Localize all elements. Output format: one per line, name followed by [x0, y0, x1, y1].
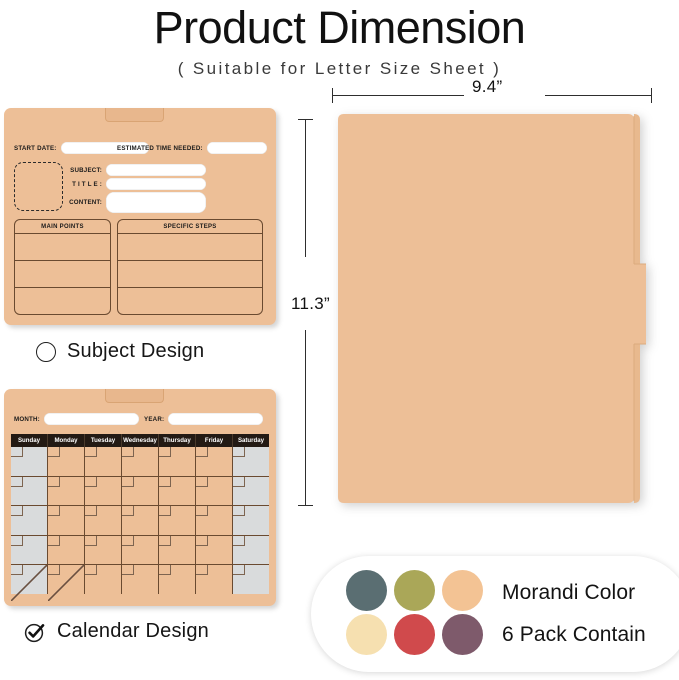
calendar-day-cell[interactable]	[11, 506, 48, 535]
page-title: Product Dimension	[0, 5, 679, 50]
color-panel: Morandi Color 6 Pack Contain	[311, 556, 679, 672]
year-label: YEAR:	[144, 416, 164, 423]
calendar-day-number-box	[48, 536, 60, 546]
start-date-label: START DATE:	[14, 145, 57, 152]
calendar-day-number-box	[48, 447, 60, 457]
height-dim-label: 11.3”	[291, 294, 330, 314]
calendar-day-cell[interactable]	[85, 565, 122, 594]
calendar-day-number-box	[159, 565, 171, 575]
table-row[interactable]	[118, 234, 262, 261]
month-input[interactable]	[44, 413, 139, 425]
calendar-week-row	[11, 536, 269, 566]
calendar-day-cell[interactable]	[196, 565, 233, 594]
calendar-day-cell[interactable]	[159, 506, 196, 535]
width-dim-right-cap	[651, 88, 652, 103]
calendar-split-cell-diagonal	[48, 565, 84, 601]
height-dim-line-bottom	[305, 330, 306, 505]
calendar-day-number-box	[233, 565, 245, 575]
content-label: CONTENT:	[66, 199, 102, 206]
calendar-day-cell[interactable]	[196, 477, 233, 506]
calendar-day-cell[interactable]	[196, 536, 233, 565]
calendar-day-number-box	[196, 447, 208, 457]
table-row[interactable]	[118, 261, 262, 288]
calendar-day-number-box	[233, 447, 245, 457]
large-folder-illustration	[332, 112, 652, 507]
weekday-tuesday: Tuesday	[85, 434, 122, 447]
specific-steps-header: SPECIFIC STEPS	[118, 220, 262, 234]
height-dim-line-top	[305, 119, 306, 257]
calendar-day-number-box	[159, 536, 171, 546]
calendar-day-number-box	[122, 477, 134, 487]
weekday-sunday: Sunday	[11, 434, 48, 447]
dashed-placeholder-box	[14, 162, 63, 211]
calendar-day-cell[interactable]	[85, 447, 122, 476]
calendar-day-cell[interactable]	[233, 565, 269, 594]
month-label: MONTH:	[14, 416, 40, 423]
title-input[interactable]	[106, 178, 206, 190]
calendar-day-number-box	[233, 536, 245, 546]
color-swatch-mauve[interactable]	[442, 614, 483, 655]
calendar-week-row	[11, 506, 269, 536]
color-panel-texts: Morandi Color 6 Pack Contain	[502, 581, 646, 647]
page-subtitle: ( Suitable for Letter Size Sheet )	[0, 59, 679, 79]
calendar-day-number-box	[196, 477, 208, 487]
calendar-day-cell[interactable]	[122, 565, 159, 594]
estimated-time-input[interactable]	[207, 142, 267, 154]
calendar-day-number-box	[48, 477, 60, 487]
table-row[interactable]	[15, 234, 110, 261]
calendar-day-cell[interactable]	[48, 506, 85, 535]
color-swatch-grid	[346, 570, 490, 658]
calendar-day-number-box	[196, 506, 208, 516]
subject-design-folder: START DATE: ESTIMATED TIME NEEDED: SUBJE…	[4, 108, 276, 325]
calendar-grid: Sunday Monday Tuesday Wednesday Thursday…	[11, 434, 269, 594]
title-field-row: T I T L E :	[66, 178, 206, 190]
calendar-day-number-box	[11, 447, 23, 457]
width-dim-label: 9.4”	[472, 77, 503, 97]
calendar-weekday-header: Sunday Monday Tuesday Wednesday Thursday…	[11, 434, 269, 447]
calendar-day-number-box	[196, 565, 208, 575]
check-circle-icon	[24, 621, 46, 643]
folder-body-path	[338, 114, 646, 503]
calendar-day-number-box	[159, 447, 171, 457]
folder-tab-notch	[105, 389, 164, 403]
calendar-day-number-box	[85, 536, 97, 546]
calendar-split-cell-diagonal	[11, 565, 47, 601]
calendar-day-number-box	[159, 506, 171, 516]
calendar-day-number-box	[122, 506, 134, 516]
large-folder-shape	[332, 112, 652, 507]
calendar-week-row	[11, 447, 269, 477]
calendar-day-cell[interactable]	[159, 565, 196, 594]
calendar-day-cell[interactable]	[159, 477, 196, 506]
calendar-day-number-box	[159, 477, 171, 487]
header: Product Dimension ( Suitable for Letter …	[0, 0, 679, 79]
content-field-row: CONTENT:	[66, 192, 206, 213]
calendar-day-number-box	[85, 506, 97, 516]
month-field-row: MONTH:	[14, 413, 139, 425]
calendar-day-cell[interactable]	[233, 536, 269, 565]
calendar-day-cell[interactable]	[122, 506, 159, 535]
calendar-day-number-box	[233, 477, 245, 487]
estimated-time-field-row: ESTIMATED TIME NEEDED:	[117, 142, 267, 154]
calendar-day-cell[interactable]	[196, 447, 233, 476]
subject-design-caption-label: Subject Design	[67, 340, 204, 363]
weekday-friday: Friday	[196, 434, 233, 447]
subject-field-row: SUBJECT:	[66, 164, 206, 176]
calendar-day-cell[interactable]	[85, 477, 122, 506]
calendar-day-cell[interactable]	[48, 477, 85, 506]
calendar-design-folder: MONTH: YEAR: Sunday Monday Tuesday Wedne…	[4, 389, 276, 606]
calendar-body	[11, 447, 269, 594]
calendar-day-number-box	[85, 477, 97, 487]
color-swatch-cream[interactable]	[346, 614, 387, 655]
calendar-day-cell[interactable]	[11, 477, 48, 506]
calendar-day-cell[interactable]	[159, 536, 196, 565]
weekday-thursday: Thursday	[159, 434, 196, 447]
folder-tab-top	[634, 114, 640, 264]
circle-outline-icon	[36, 342, 56, 362]
folder-tab-notch	[105, 108, 164, 122]
calendar-week-row	[11, 477, 269, 507]
calendar-day-cell[interactable]	[122, 536, 159, 565]
table-row[interactable]	[118, 288, 262, 315]
folder-tab-bottom	[634, 344, 640, 503]
main-points-header: MAIN POINTS	[15, 220, 110, 234]
calendar-day-cell[interactable]	[11, 565, 48, 594]
color-swatch-olive-green[interactable]	[394, 570, 435, 611]
calendar-day-number-box	[233, 506, 245, 516]
height-dim-bottom-cap	[298, 505, 313, 506]
calendar-day-cell[interactable]	[85, 536, 122, 565]
calendar-day-cell[interactable]	[48, 565, 85, 594]
table-row[interactable]	[15, 288, 110, 315]
width-dim-line-left	[332, 95, 464, 96]
width-dim-line-right	[545, 95, 651, 96]
specific-steps-table: SPECIFIC STEPS	[117, 219, 263, 315]
morandi-color-label: Morandi Color	[502, 581, 646, 605]
color-swatch-red[interactable]	[394, 614, 435, 655]
weekday-saturday: Saturday	[233, 434, 269, 447]
calendar-day-cell[interactable]	[11, 447, 48, 476]
calendar-day-cell[interactable]	[48, 536, 85, 565]
calendar-day-number-box	[11, 477, 23, 487]
calendar-week-row	[11, 565, 269, 594]
subject-label: SUBJECT:	[66, 167, 102, 174]
calendar-day-number-box	[85, 447, 97, 457]
weekday-monday: Monday	[48, 434, 85, 447]
calendar-day-cell[interactable]	[196, 506, 233, 535]
calendar-day-cell[interactable]	[122, 447, 159, 476]
estimated-time-label: ESTIMATED TIME NEEDED:	[117, 145, 203, 152]
calendar-day-cell[interactable]	[233, 447, 269, 476]
calendar-day-number-box	[11, 536, 23, 546]
title-label: T I T L E :	[66, 181, 102, 188]
calendar-day-cell[interactable]	[85, 506, 122, 535]
year-field-row: YEAR:	[144, 413, 263, 425]
color-swatch-peach[interactable]	[442, 570, 483, 611]
calendar-design-caption: Calendar Design	[24, 620, 209, 643]
color-swatch-slate-blue[interactable]	[346, 570, 387, 611]
weekday-wednesday: Wednesday	[122, 434, 159, 447]
calendar-design-caption-label: Calendar Design	[57, 620, 209, 643]
calendar-day-number-box	[196, 536, 208, 546]
calendar-day-number-box	[122, 447, 134, 457]
calendar-day-number-box	[122, 565, 134, 575]
calendar-day-cell[interactable]	[233, 506, 269, 535]
calendar-day-cell[interactable]	[122, 477, 159, 506]
calendar-day-cell[interactable]	[233, 477, 269, 506]
year-input[interactable]	[168, 413, 263, 425]
main-points-table: MAIN POINTS	[14, 219, 111, 315]
subject-design-caption: Subject Design	[36, 340, 204, 363]
calendar-day-cell[interactable]	[159, 447, 196, 476]
content-input[interactable]	[106, 192, 206, 213]
calendar-day-cell[interactable]	[48, 447, 85, 476]
calendar-day-number-box	[85, 565, 97, 575]
six-pack-contain-label: 6 Pack Contain	[502, 623, 646, 647]
calendar-day-number-box	[11, 506, 23, 516]
subject-input[interactable]	[106, 164, 206, 176]
table-row[interactable]	[15, 261, 110, 288]
calendar-day-number-box	[48, 506, 60, 516]
calendar-day-cell[interactable]	[11, 536, 48, 565]
calendar-day-number-box	[122, 536, 134, 546]
